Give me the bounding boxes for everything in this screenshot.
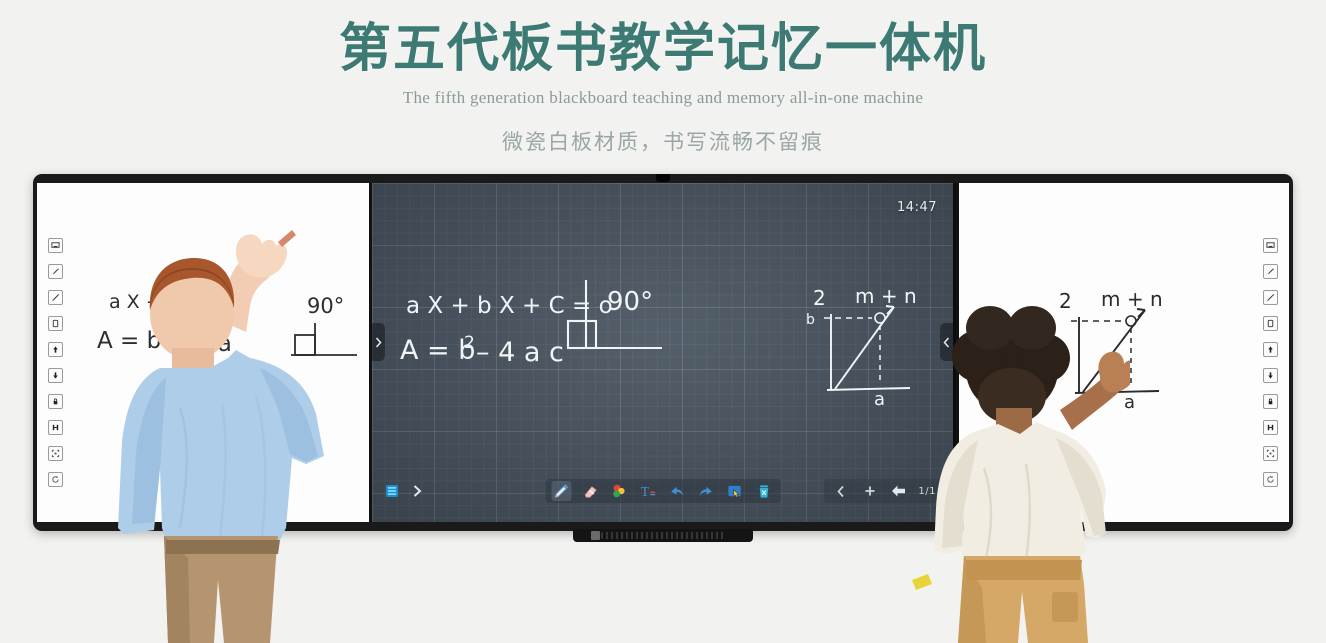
svg-text:a X + b X + C = o: a X + b X + C = o xyxy=(406,293,613,319)
screen-icon[interactable] xyxy=(1263,238,1278,253)
chevron-right-icon[interactable] xyxy=(407,481,427,501)
lock-icon[interactable] xyxy=(48,394,63,409)
magnet-icon[interactable] xyxy=(48,420,63,435)
arrow-down-icon[interactable] xyxy=(48,368,63,383)
menu-grid-icon[interactable] xyxy=(382,481,402,501)
page-icon[interactable] xyxy=(1263,316,1278,331)
add-page-icon[interactable] xyxy=(860,481,880,501)
arrow-down-icon[interactable] xyxy=(1263,368,1278,383)
right-side-toolbar xyxy=(1263,238,1278,487)
left-panel-handle[interactable] xyxy=(372,323,385,361)
pen-icon[interactable] xyxy=(1263,264,1278,279)
trash-icon[interactable] xyxy=(754,481,774,501)
svg-text:90°: 90° xyxy=(607,287,653,317)
center-board-handwriting: a X + b X + C = o A = b 2 – 4 a c 90° 2 … xyxy=(372,183,953,522)
arrow-up-icon[interactable] xyxy=(1263,342,1278,357)
arrow-up-icon[interactable] xyxy=(48,342,63,357)
subtitle-chinese: 微瓷白板材质，书写流畅不留痕 xyxy=(0,126,1326,156)
svg-text:T: T xyxy=(641,483,649,498)
center-blackboard-panel: 14:47 a X + b X + C = o A = b 2 – 4 a c … xyxy=(372,183,953,522)
undo-icon[interactable] xyxy=(667,481,687,501)
clock: 14:47 xyxy=(897,200,937,215)
camera-icon xyxy=(656,174,670,182)
subtitle-english: The fifth generation blackboard teaching… xyxy=(0,88,1326,108)
fullscreen-icon[interactable] xyxy=(1263,446,1278,461)
center-bottom-toolbar: T xyxy=(372,478,953,504)
refresh-icon[interactable] xyxy=(1263,472,1278,487)
magnet-icon[interactable] xyxy=(1263,420,1278,435)
page-title: 第五代板书教学记忆一体机 xyxy=(0,0,1326,78)
pen-icon[interactable] xyxy=(48,264,63,279)
redo-icon[interactable] xyxy=(696,481,716,501)
text-tool-icon[interactable]: T xyxy=(638,481,658,501)
refresh-icon[interactable] xyxy=(48,472,63,487)
toolbar-left-group xyxy=(382,481,427,501)
person-left-teacher xyxy=(110,228,360,643)
person-right-student xyxy=(900,292,1130,643)
screen-icon[interactable] xyxy=(48,238,63,253)
palette-tool-icon[interactable] xyxy=(609,481,629,501)
fullscreen-icon[interactable] xyxy=(48,446,63,461)
marker-icon[interactable] xyxy=(1263,290,1278,305)
page-icon[interactable] xyxy=(48,316,63,331)
svg-text:a: a xyxy=(874,389,885,410)
toolbar-tools-group: T xyxy=(545,479,780,503)
lock-icon[interactable] xyxy=(1263,394,1278,409)
page-header: 第五代板书教学记忆一体机 The fifth generation blackb… xyxy=(0,0,1326,156)
eraser-tool-icon[interactable] xyxy=(580,481,600,501)
select-tool-icon[interactable] xyxy=(725,481,745,501)
prev-page-icon[interactable] xyxy=(831,481,851,501)
device-logo xyxy=(591,531,600,540)
marker-icon[interactable] xyxy=(48,290,63,305)
pen-tool-icon[interactable] xyxy=(551,481,571,501)
svg-text:2: 2 xyxy=(813,286,826,310)
left-side-toolbar xyxy=(48,238,63,487)
svg-text:b: b xyxy=(806,312,815,328)
device-port-strip xyxy=(601,532,725,539)
svg-text:2: 2 xyxy=(464,333,475,353)
svg-text:– 4 a c: – 4 a c xyxy=(476,337,564,368)
